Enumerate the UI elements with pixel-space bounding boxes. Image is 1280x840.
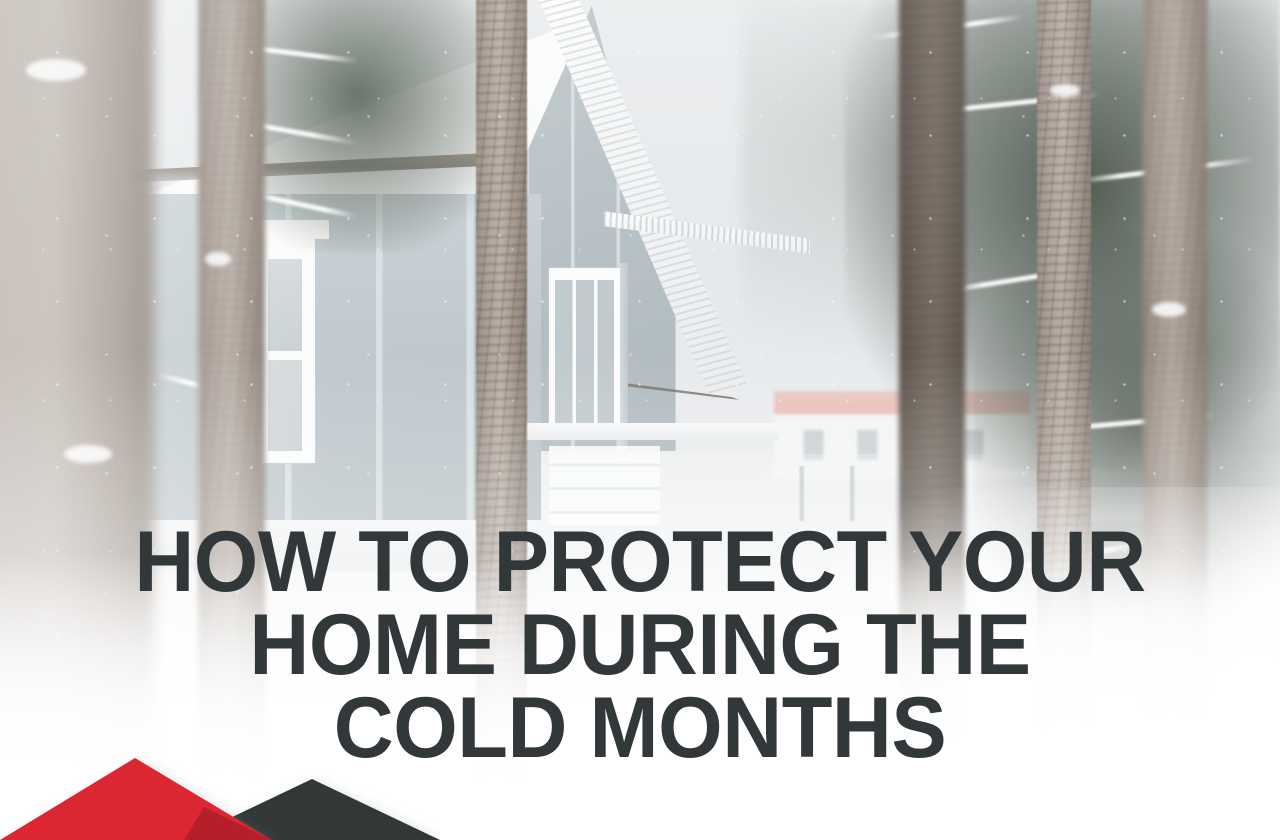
headline-line-1: HOW TO PROTECT YOUR (22, 521, 1257, 604)
roof-chevron-logo[interactable] (0, 750, 440, 840)
headline-line-2: HOME DURING THE (22, 604, 1257, 687)
banner-canvas: HOW TO PROTECT YOUR HOME DURING THE COLD… (0, 0, 1280, 840)
headline: HOW TO PROTECT YOUR HOME DURING THE COLD… (22, 521, 1257, 770)
